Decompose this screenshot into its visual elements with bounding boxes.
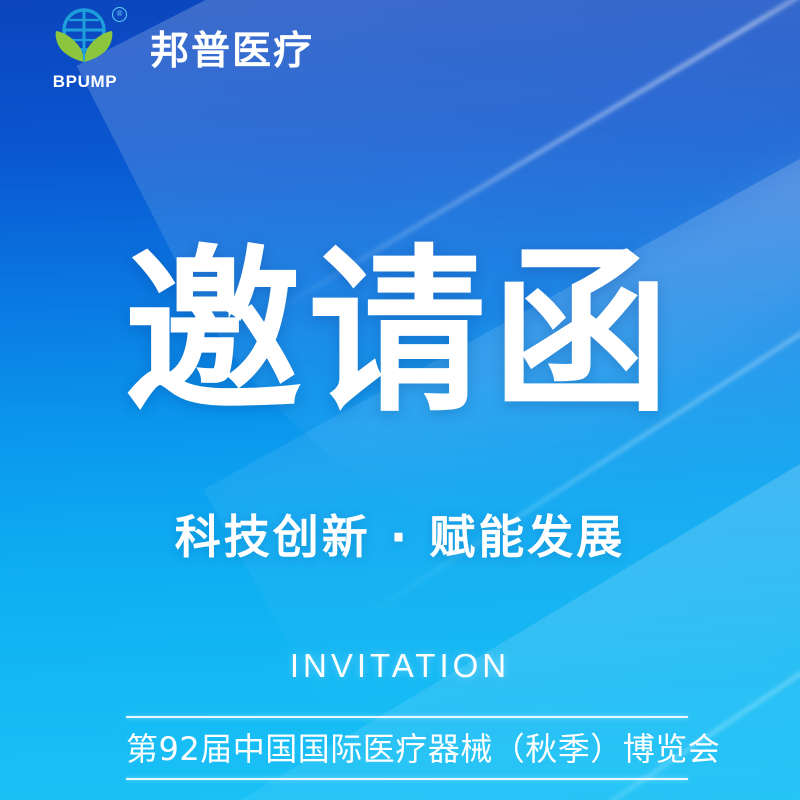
bpump-circle-cross-leaf-logo [48,6,120,68]
brand-logo: ® BPUMP [44,6,126,90]
registered-trademark-icon: ® [112,7,127,22]
invitation-poster: ® BPUMP 邦普医疗 邀请函 科技创新 · 赋能发展 INVITATION … [0,0,800,800]
subtitle-slogan: 科技创新 · 赋能发展 [0,508,800,566]
logo-wordmark: BPUMP [44,73,126,91]
divider-bottom [126,778,688,780]
event-name: 第92届中国国际医疗器械（秋季）博览会 [126,718,688,778]
company-name: 邦普医疗 [150,20,314,76]
brand-bar: ® BPUMP 邦普医疗 [0,0,800,96]
footer-block: 第92届中国国际医疗器械（秋季）博览会 [126,716,688,780]
invitation-english-label: INVITATION [0,648,800,684]
page-title: 邀请函 [0,238,800,428]
